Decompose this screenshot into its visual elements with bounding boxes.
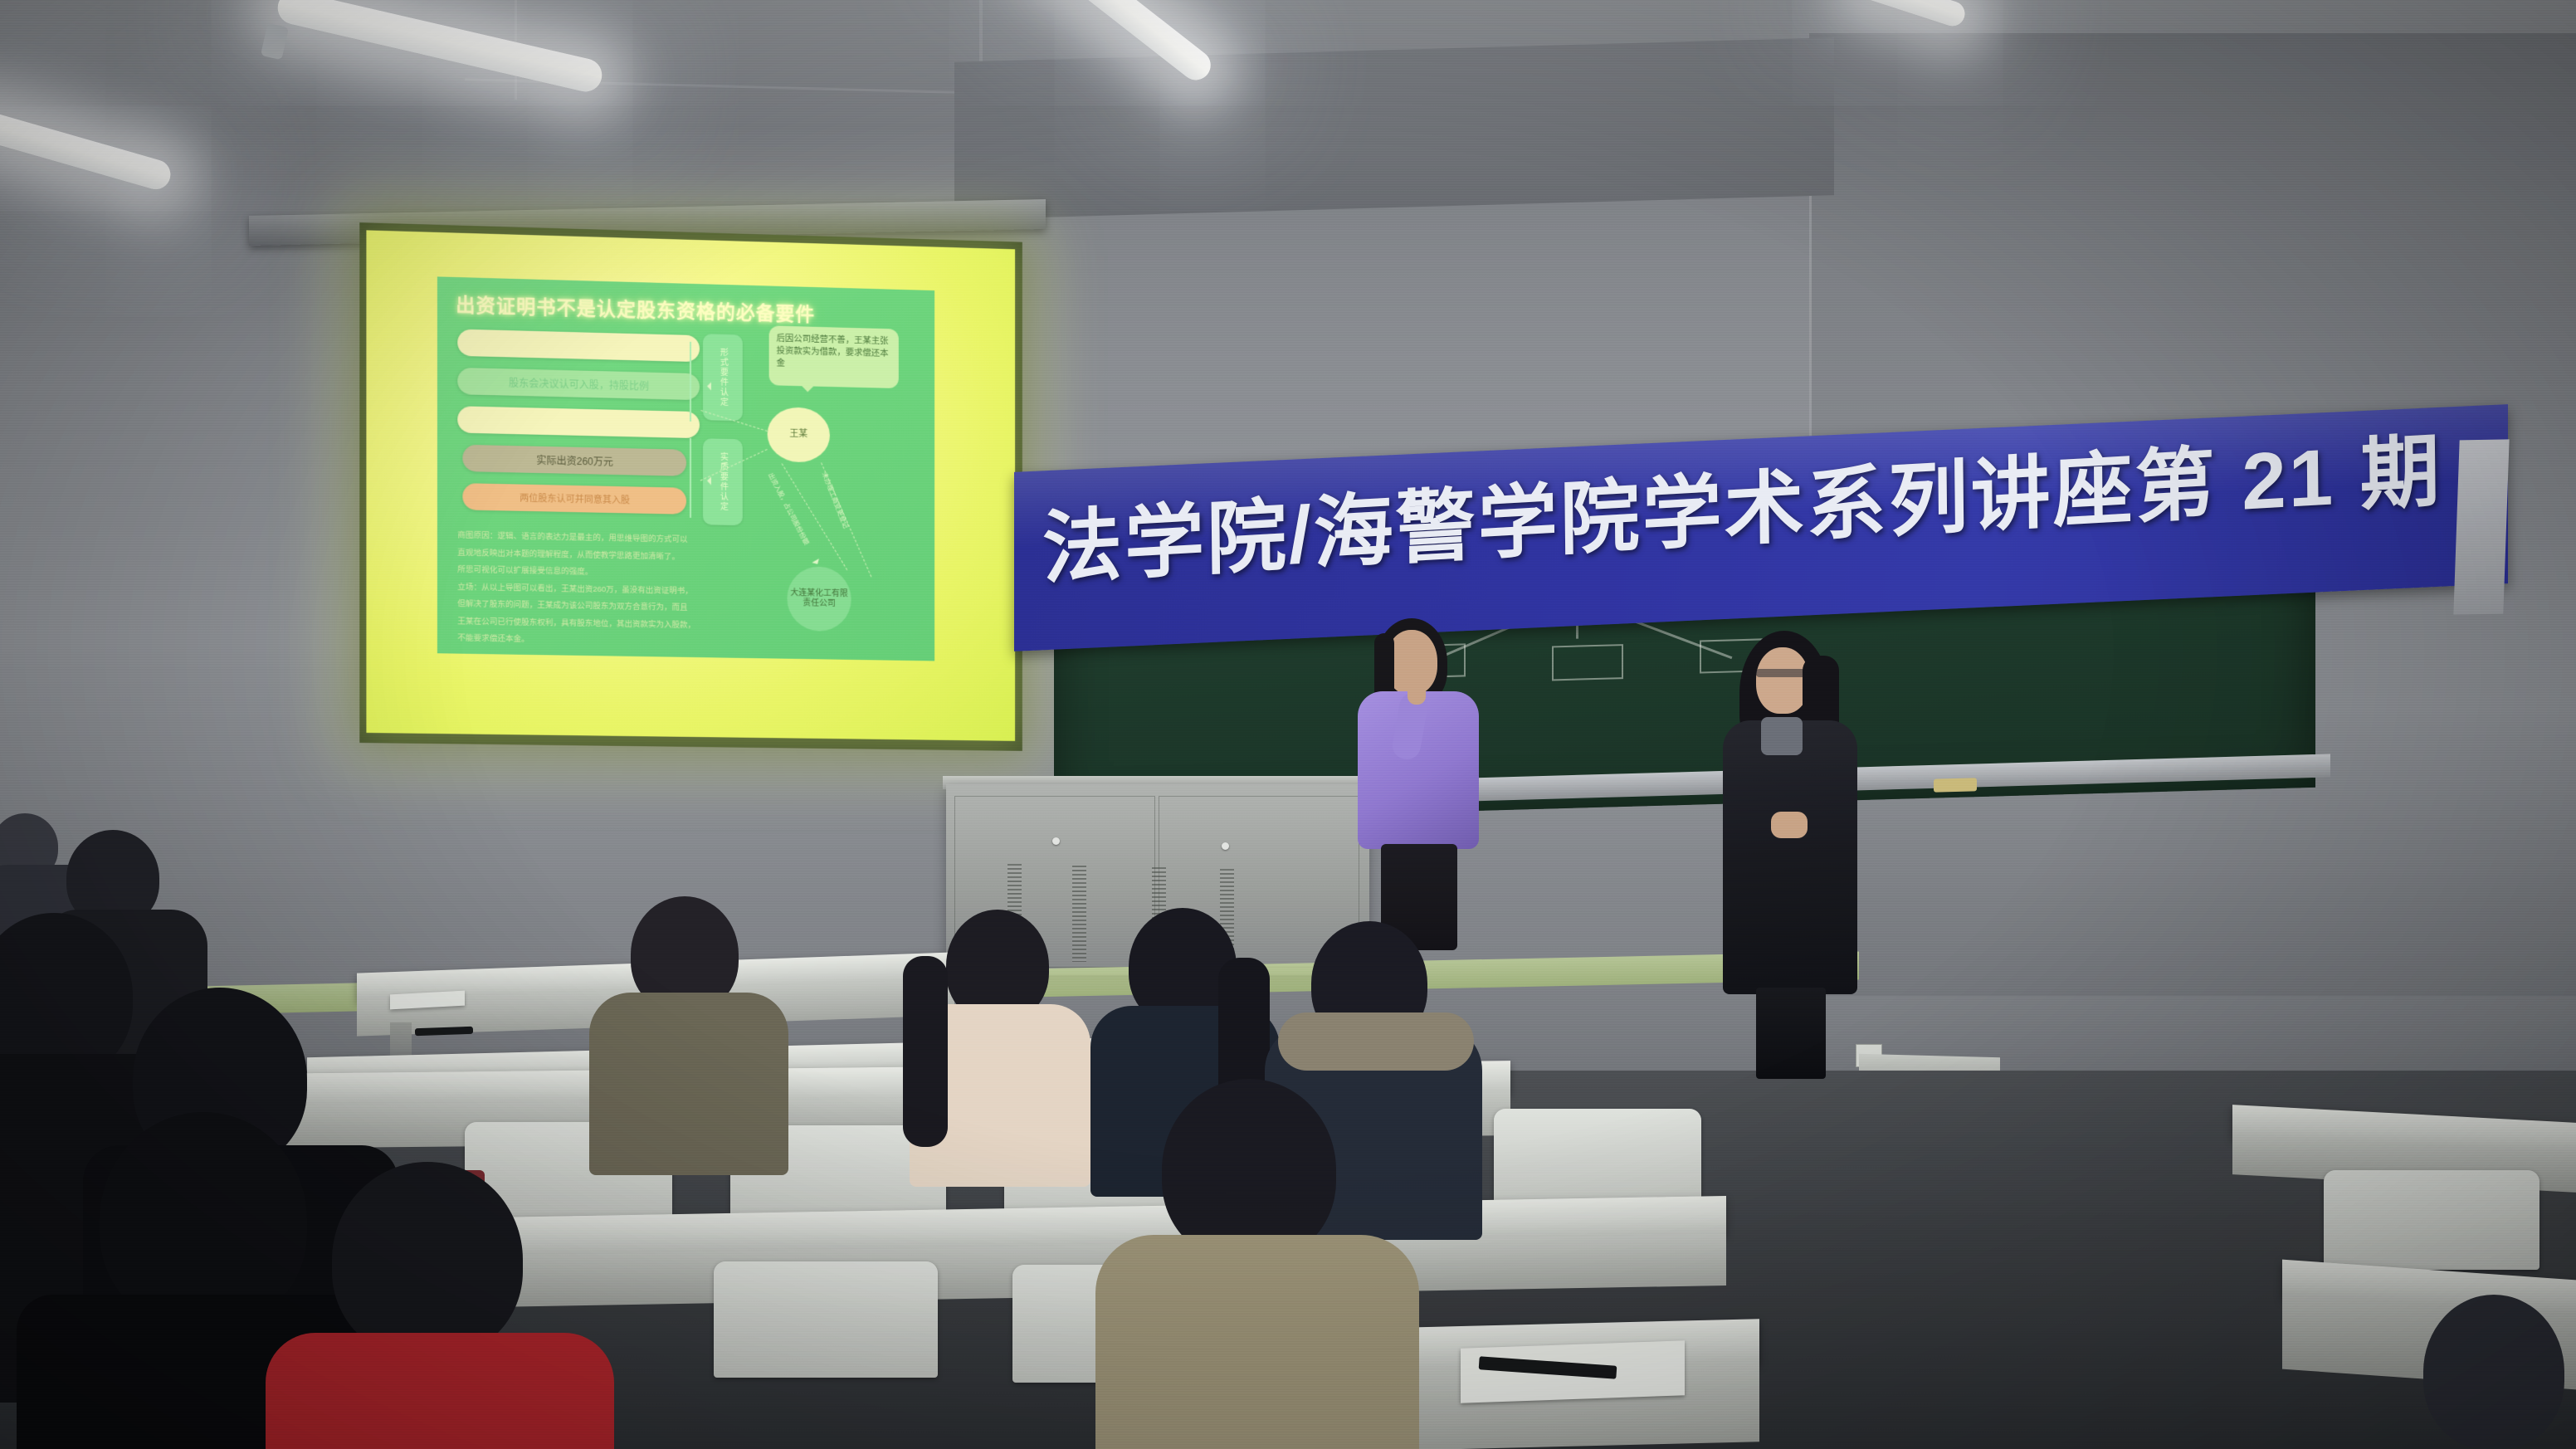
speaker-right: [1710, 631, 1876, 1079]
cabinet-vent: [1072, 866, 1086, 962]
projection-screen: 出资证明书不是认定股东资格的必备要件 股东会决议认可入股，持股比例 实际出资26…: [359, 222, 1022, 751]
presentation-slide: 出资证明书不是认定股东资格的必备要件 股东会决议认可入股，持股比例 实际出资26…: [437, 276, 934, 661]
ceiling-soffit: [954, 37, 1834, 220]
banner-edge: [2453, 439, 2509, 614]
slide-bullet: 两位股东认可并同意其入股: [462, 483, 686, 515]
slide-node-wang: 王某: [768, 407, 830, 462]
slide-vertical-box: 形式要件认定: [703, 334, 743, 421]
slide-edge-label: 未办理工商变更登记: [820, 471, 851, 529]
seat-back[interactable]: [714, 1261, 938, 1378]
speaker-left: [1353, 618, 1486, 950]
speaker-right-glasses: [1756, 669, 1809, 677]
seat-back[interactable]: [1494, 1109, 1701, 1205]
slide-body-line: 不能要求偿还本金。: [457, 632, 823, 652]
speaker-right-head: [1756, 647, 1809, 714]
speaker-left-hand: [1408, 680, 1426, 705]
lecture-hall-photo: 出资证明书不是认定股东资格的必备要件 股东会决议认可入股，持股比例 实际出资26…: [0, 0, 2576, 1449]
cabinet-knob[interactable]: [1052, 837, 1060, 845]
speaker-right-coat: [1723, 720, 1857, 994]
slide-bullet: [457, 406, 700, 438]
seat-back[interactable]: [2324, 1170, 2539, 1270]
slide-bullet: [457, 329, 700, 363]
cabinet-knob[interactable]: [1222, 842, 1229, 850]
speaker-right-hands: [1771, 812, 1808, 838]
slide-body-text: 商图原因：逻辑、语言的表达力是最主的，用思维导图的方式可以 直观地反映出对本题的…: [457, 528, 823, 654]
speaker-right-legs: [1756, 988, 1826, 1079]
blackboard-eraser[interactable]: [1934, 778, 1977, 792]
slide-bullet: 实际出资260万元: [462, 445, 686, 476]
slide-title: 出资证明书不是认定股东资格的必备要件: [456, 289, 920, 329]
speaker-right-scarf: [1761, 717, 1803, 755]
slide-speech-bubble: 后因公司经营不善，王某主张投资款实为借款，要求偿还本金: [769, 325, 899, 388]
slide-bullet: 股东会决议认可入股，持股比例: [457, 368, 700, 400]
